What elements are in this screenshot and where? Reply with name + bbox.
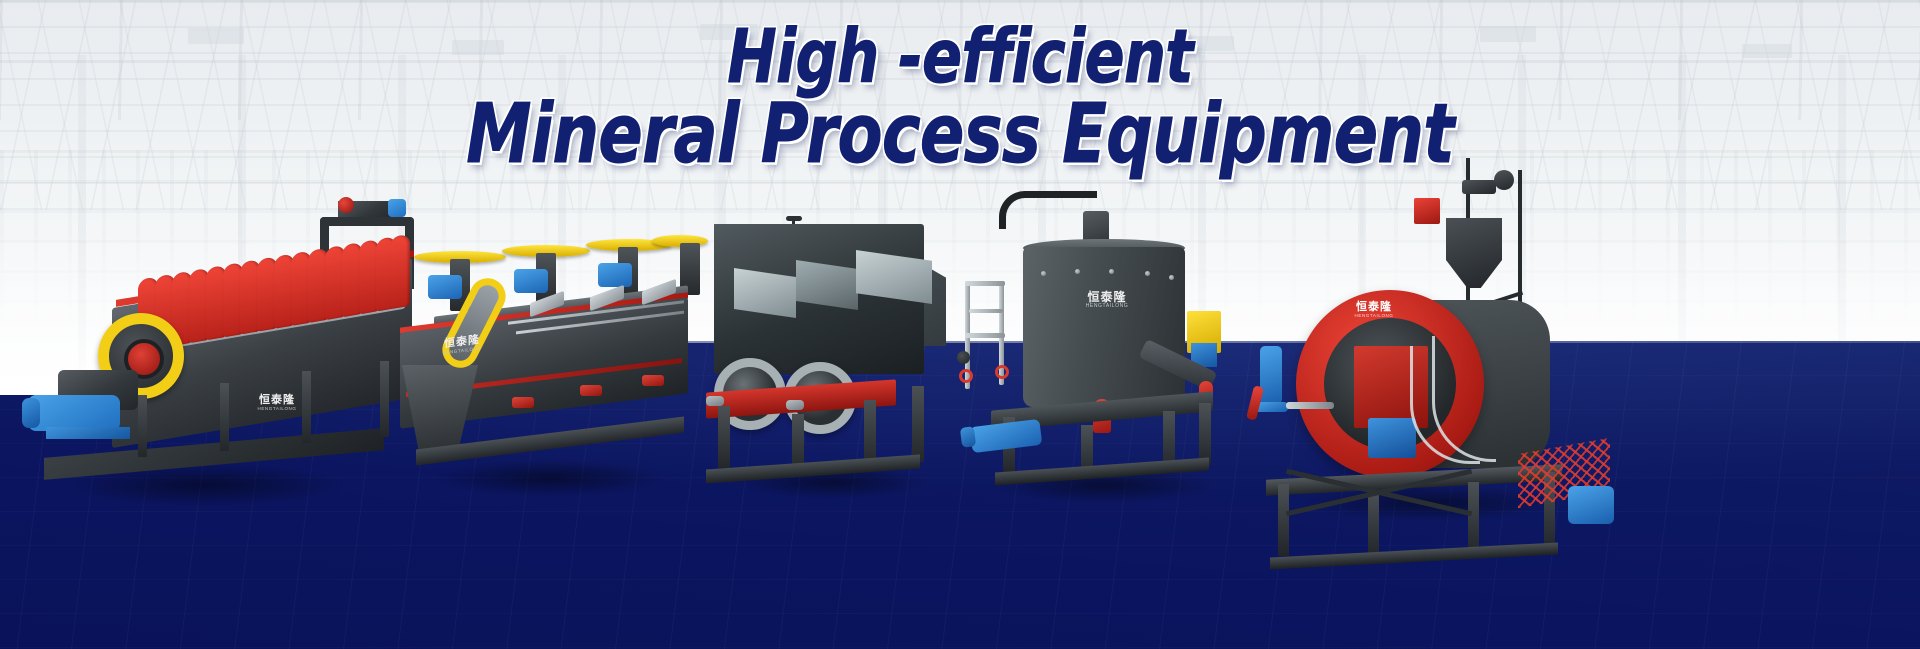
machine-centrifugal-concentrator[interactable]: 恒泰隆 HENGTAILONG [955,185,1255,505]
jig-support-leg [718,406,730,468]
brand-logo-cn: 恒泰隆 [1077,291,1137,303]
flotation-motor [428,275,462,299]
water-valve-handwheel[interactable] [959,369,973,383]
separator-leg [1368,490,1379,558]
separator-drive-box [1368,418,1416,458]
drum-bolt [1041,271,1046,276]
concentrator-drum [1023,247,1185,407]
brand-logo: 恒泰隆 HENGTAILONG [1077,291,1137,309]
concentrator-water-manifold [955,281,1021,411]
ceiling-lamp [1180,36,1234,51]
flotation-discharge-nozzle [642,375,664,386]
brand-logo: 恒泰隆 HENGTAILONG [1344,302,1404,319]
separator-discharge-cone [1568,486,1614,524]
separator-cyclone [1446,218,1502,288]
flotation-feed-hopper [402,365,478,451]
separator-elbow [1494,170,1514,190]
jig-shaft-end [706,396,724,406]
spiral-motor-base [46,427,130,439]
flotation-discharge-nozzle [580,385,602,396]
separator-leg [1468,482,1479,556]
product-banner: High -efficient Mineral Process Equipmen… [0,0,1920,649]
flotation-motor [514,269,548,293]
brand-logo-en: HENGTAILONG [1077,304,1137,309]
brand-logo-cn: 恒泰隆 [1344,302,1404,313]
drum-bolt [1075,269,1080,274]
brand-logo-en: HENGTAILONG [1344,314,1404,319]
water-pipe [965,281,1005,286]
ceiling-lamp [188,28,244,44]
brand-logo-en: HENGTAILONG [252,407,302,412]
machine-spiral-classifier[interactable]: 恒泰隆 HENGTAILONG [20,195,420,505]
concentrator-motor-cap [960,426,976,448]
separator-filter-housing [1260,346,1282,404]
jig-support-leg [912,386,924,462]
ceiling-lamp [452,40,504,55]
brand-logo-cn: 恒泰隆 [252,395,302,406]
flotation-discharge-nozzle [512,397,534,408]
ceiling-lamp [1480,26,1536,42]
water-valve-handwheel[interactable] [995,365,1009,379]
machine-jig[interactable] [700,210,960,500]
flotation-motor [598,263,632,287]
jig-base-frame [706,455,920,484]
spiral-top-pulley [338,197,354,213]
brand-logo: 恒泰隆 HENGTAILONG [252,395,302,412]
machine-flotation[interactable]: 恒泰隆 HENGTAILONG [390,215,710,495]
ceiling-lamp [700,24,758,40]
concentrator-leg [1199,403,1211,465]
concentrator-motor [970,419,1043,453]
ceiling-lamp [1742,44,1792,58]
spiral-motor-cap [22,398,40,428]
water-pipe [965,333,1005,338]
drum-bolt [1169,275,1174,280]
concentrator-base-frame [995,458,1209,486]
machine-magnetic-separator[interactable]: 恒泰隆 HENGTAILONG [1250,150,1620,510]
drum-bolt [1145,271,1150,276]
separator-control-box [1414,198,1440,224]
water-pipe [969,309,1003,313]
separator-pipe [1286,402,1334,409]
pressure-gauge [957,351,970,364]
jig-shaft-end [786,400,804,410]
separator-outlet-pipe [1462,180,1496,194]
drum-bolt [1109,269,1114,274]
spiral-drive-motor [28,395,120,431]
separator-leg [1278,484,1289,556]
